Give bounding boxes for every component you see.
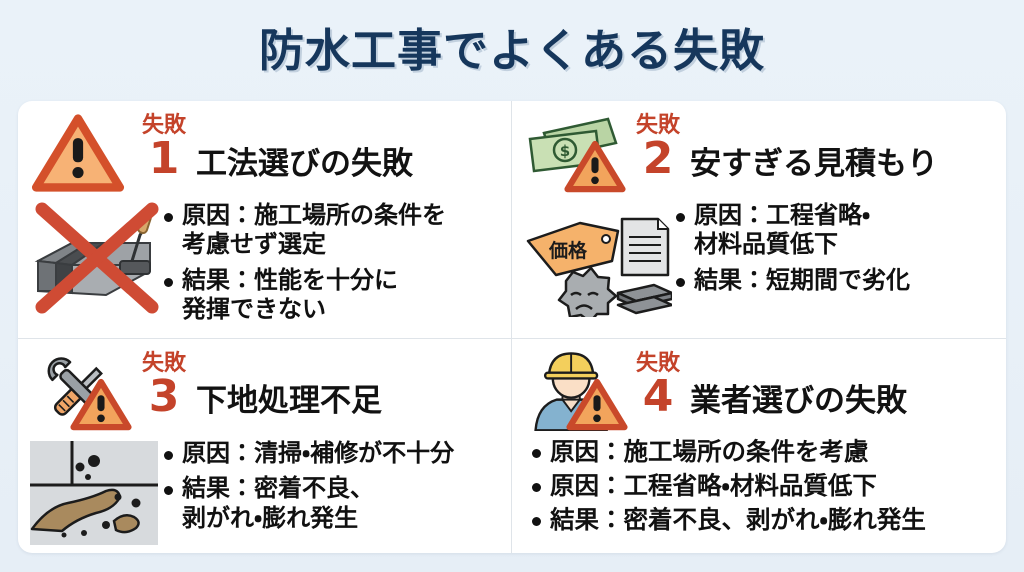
- card-1-number: 1: [149, 138, 180, 180]
- failure-cards-panel: 失敗 1 工法選びの失敗: [18, 101, 1006, 553]
- bullet-text: 結果：密着不良、 剥がれ・膨れ発生: [182, 474, 374, 533]
- bullet-text: 原因：工程省略・ 材料品質低下: [694, 201, 870, 260]
- bullet-dot-icon: [164, 486, 173, 495]
- bullet-dot-icon: [532, 449, 541, 458]
- bullet-text: 原因：施工場所の条件を考慮: [550, 437, 869, 467]
- price-tag-label: 価格: [548, 239, 588, 262]
- card-4-badge: 失敗 4: [630, 349, 686, 418]
- card-1-heading: 工法選びの失敗: [196, 128, 413, 181]
- card-4-body: 原因：施工場所の条件を考慮 原因：工程省略・材料品質低下 結果：密着不良、剥がれ…: [522, 435, 996, 553]
- failure-card-2: $ 失敗 2 安すぎる見積もり: [512, 101, 1006, 339]
- card-4-heading: 業者選びの失敗: [690, 367, 907, 418]
- card-1-badge: 失敗 1: [136, 111, 192, 180]
- bullet-item: 原因：清掃・補修が不十分: [164, 439, 501, 468]
- card-2-badge: 失敗 2: [630, 111, 686, 180]
- card-3-badge: 失敗 3: [136, 349, 192, 418]
- bullet-item: 原因：工程省略・ 材料品質低下: [676, 201, 996, 260]
- bullet-text: 原因：清掃・補修が不十分: [182, 439, 454, 468]
- card-4-bullets: 原因：施工場所の条件を考慮 原因：工程省略・材料品質低下 結果：密着不良、剥がれ…: [522, 435, 996, 553]
- warning-triangle-icon: [28, 111, 132, 195]
- card-3-number: 3: [149, 376, 180, 418]
- page-title: 防水工事でよくある失敗: [259, 14, 765, 79]
- card-1-header: 失敗 1 工法選びの失敗: [28, 111, 501, 197]
- bullet-text: 結果：性能を十分に 発揮できない: [182, 266, 398, 325]
- price-tag-documents-illustration: 価格: [522, 199, 672, 317]
- bullet-dot-icon: [164, 278, 173, 287]
- roof-roller-crossed-out-illustration: [28, 199, 160, 317]
- card-3-bullets: 原因：清掃・補修が不十分 結果：密着不良、 剥がれ・膨れ発生: [164, 435, 501, 553]
- card-2-header: $ 失敗 2 安すぎる見積もり: [522, 111, 996, 197]
- card-2-bullets: 原因：工程省略・ 材料品質低下 結果：短期間で劣化: [676, 197, 996, 330]
- bullet-item: 原因：工程省略・材料品質低下: [532, 471, 996, 501]
- bullet-dot-icon: [676, 213, 685, 222]
- card-1-bullets: 原因：施工場所の条件を 考慮せず選定 結果：性能を十分に 発揮できない: [164, 197, 501, 330]
- card-3-heading: 下地処理不足: [196, 367, 382, 418]
- bullet-item: 原因：施工場所の条件を考慮: [532, 437, 996, 467]
- card-4-header: 失敗 4 業者選びの失敗: [522, 349, 996, 435]
- bullet-dot-icon: [164, 213, 173, 222]
- bullet-text: 原因：工程省略・材料品質低下: [550, 471, 877, 501]
- bullet-text: 原因：施工場所の条件を 考慮せず選定: [182, 201, 446, 260]
- failure-card-1: 失敗 1 工法選びの失敗: [18, 101, 512, 339]
- failure-card-4: 失敗 4 業者選びの失敗 原因：施工場所の条件を考慮 原因：工程省略・材料品質低…: [512, 339, 1006, 553]
- card-3-header: 失敗 3 下地処理不足: [28, 349, 501, 435]
- bullet-text: 結果：密着不良、剥がれ・膨れ発生: [550, 505, 926, 535]
- bullet-item: 結果：短期間で劣化: [676, 266, 996, 295]
- card-2-body: 価格: [522, 197, 996, 330]
- infographic-page: 防水工事でよくある失敗 失敗 1 工法選びの失敗: [0, 0, 1024, 572]
- dirty-floor-stains-illustration: [28, 437, 160, 553]
- card-4-number: 4: [643, 376, 674, 418]
- failure-card-3: 失敗 3 下地処理不足: [18, 339, 512, 553]
- bullet-dot-icon: [532, 483, 541, 492]
- bullet-dot-icon: [676, 278, 685, 287]
- bullet-item: 結果：密着不良、 剥がれ・膨れ発生: [164, 474, 501, 533]
- bullet-item: 原因：施工場所の条件を 考慮せず選定: [164, 201, 501, 260]
- bullet-dot-icon: [532, 517, 541, 526]
- title-bar: 防水工事でよくある失敗: [0, 0, 1024, 92]
- card-2-number: 2: [643, 138, 674, 180]
- money-bills-icon: $: [522, 111, 626, 195]
- construction-worker-icon: [522, 349, 626, 433]
- tools-wrench-screwdriver-icon: [28, 349, 132, 433]
- card-3-body: 原因：清掃・補修が不十分 結果：密着不良、 剥がれ・膨れ発生: [28, 435, 501, 553]
- bullet-dot-icon: [164, 451, 173, 460]
- bullet-item: 結果：密着不良、剥がれ・膨れ発生: [532, 505, 996, 535]
- card-1-body: 原因：施工場所の条件を 考慮せず選定 結果：性能を十分に 発揮できない: [28, 197, 501, 330]
- bullet-text: 結果：短期間で劣化: [694, 266, 910, 295]
- card-2-heading: 安すぎる見積もり: [690, 128, 938, 181]
- bullet-item: 結果：性能を十分に 発揮できない: [164, 266, 501, 325]
